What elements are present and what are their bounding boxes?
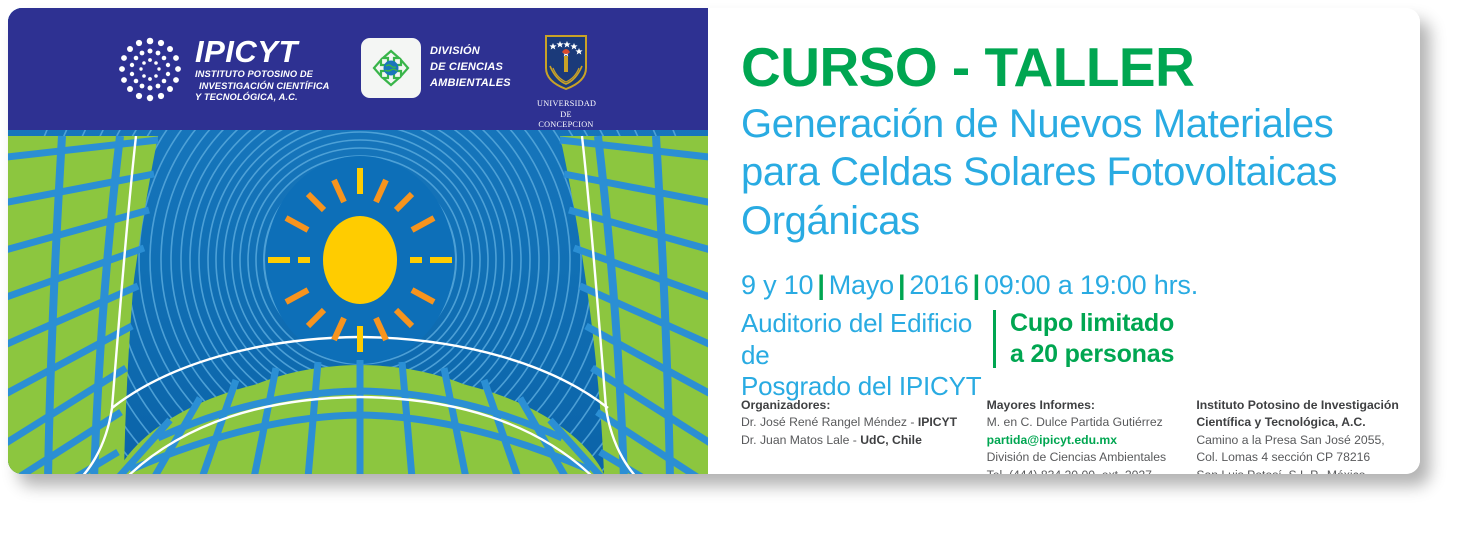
flyer-card: IPICYT INSTITUTO POTOSINO DE INVESTIGACI… <box>8 8 1420 474</box>
capacity-line-1: Cupo limitado <box>1010 308 1174 339</box>
udec-label-line-2: DE CONCEPCION <box>537 110 595 131</box>
poster-root: IPICYT INSTITUTO POTOSINO DE INVESTIGACI… <box>0 0 1475 533</box>
info-phone: Tel. (444) 834 20 00, ext. 2027 <box>987 467 1197 474</box>
ipicyt-subtitle-line-1: INSTITUTO POTOSINO DE <box>195 69 330 81</box>
dca-label-line-2: DE CIENCIAS <box>430 60 511 76</box>
organizer-2-name: Dr. Juan Matos Lale - <box>741 433 860 447</box>
page-subtitle: Generación de Nuevos Materiales para Cel… <box>741 100 1401 245</box>
capacity-line-2: a 20 personas <box>1010 339 1174 370</box>
content-panel: CURSO - TALLER Generación de Nuevos Mate… <box>715 8 1420 474</box>
institute-name-line-1: Instituto Potosino de Investigación <box>1196 397 1406 414</box>
capacity-note: Cupo limitado a 20 personas <box>1010 308 1174 369</box>
organizer-2: Dr. Juan Matos Lale - UdC, Chile <box>741 432 987 449</box>
organizer-1-affiliation: IPICYT <box>918 415 957 429</box>
info-email-link[interactable]: partida@ipicyt.edu.mx <box>987 432 1197 449</box>
event-venue: Auditorio del Edificio de Posgrado del I… <box>741 308 993 403</box>
ipicyt-logo: IPICYT INSTITUTO POTOSINO DE INVESTIGACI… <box>114 34 330 106</box>
event-day: 9 y 10 <box>741 270 813 300</box>
organizer-1-name: Dr. José René Rangel Méndez - <box>741 415 918 429</box>
venue-capacity-row: Auditorio del Edificio de Posgrado del I… <box>741 308 1174 403</box>
header-logo-band: IPICYT INSTITUTO POTOSINO DE INVESTIGACI… <box>8 8 708 130</box>
event-dateline: 9 y 10|Mayo|2016|09:00 a 19:00 hrs. <box>741 270 1198 301</box>
institute-block: Instituto Potosino de Investigación Cien… <box>1196 397 1406 474</box>
udec-crest-icon <box>540 32 592 92</box>
dca-label-line-3: AMBIENTALES <box>430 76 511 92</box>
venue-line-1: Auditorio del Edificio de <box>741 308 993 371</box>
footer: Organizadores: Dr. José René Rangel Ménd… <box>741 397 1406 474</box>
event-year: 2016 <box>909 270 968 300</box>
ipicyt-subtitle-line-2: INVESTIGACIÓN CIENTÍFICA <box>195 81 330 93</box>
ipicyt-swirl-icon <box>114 34 186 106</box>
universidad-de-concepcion-logo: UNIVERSIDAD DE CONCEPCION <box>537 32 595 131</box>
venue-divider <box>993 310 996 368</box>
ipicyt-subtitle-line-3: Y TECNOLÓGICA, A.C. <box>195 92 330 104</box>
event-time: 09:00 a 19:00 hrs. <box>984 270 1198 300</box>
info-heading: Mayores Informes: <box>987 397 1197 414</box>
recycling-globe-icon <box>368 45 414 91</box>
institute-address-line-1: Camino a la Presa San José 2055, <box>1196 432 1406 449</box>
division-ciencias-ambientales-logo: DIVISIÓN DE CIENCIAS AMBIENTALES <box>361 38 511 98</box>
institute-name-line-2: Científica y Tecnológica, A.C. <box>1196 414 1406 431</box>
institute-address-line-2: Col. Lomas 4 sección CP 78216 <box>1196 449 1406 466</box>
info-division: División de Ciencias Ambientales <box>987 449 1197 466</box>
event-month: Mayo <box>829 270 894 300</box>
dca-label: DIVISIÓN DE CIENCIAS AMBIENTALES <box>430 44 511 92</box>
organizers-block: Organizadores: Dr. José René Rangel Ménd… <box>741 397 987 474</box>
organizer-1: Dr. José René Rangel Méndez - IPICYT <box>741 414 987 431</box>
udec-label: UNIVERSIDAD DE CONCEPCION <box>537 99 595 131</box>
organizer-2-affiliation: UdC, Chile <box>860 433 922 447</box>
udec-label-line-1: UNIVERSIDAD <box>537 99 595 110</box>
ipicyt-subtitle: INSTITUTO POTOSINO DE INVESTIGACIÓN CIEN… <box>195 69 330 105</box>
info-contact: M. en C. Dulce Partida Gutiérrez <box>987 414 1197 431</box>
info-block: Mayores Informes: M. en C. Dulce Partida… <box>987 397 1197 474</box>
page-title: CURSO - TALLER <box>741 40 1194 95</box>
dca-label-line-1: DIVISIÓN <box>430 44 511 60</box>
dateline-separator-1: | <box>813 270 828 300</box>
institute-address-line-3: San Luis Potosí, S.L.P., México <box>1196 467 1406 474</box>
dateline-separator-2: | <box>894 270 909 300</box>
organizers-heading: Organizadores: <box>741 397 987 414</box>
ipicyt-wordmark: IPICYT <box>195 36 330 67</box>
dca-logo-tile <box>361 38 421 98</box>
dateline-separator-3: | <box>969 270 984 300</box>
